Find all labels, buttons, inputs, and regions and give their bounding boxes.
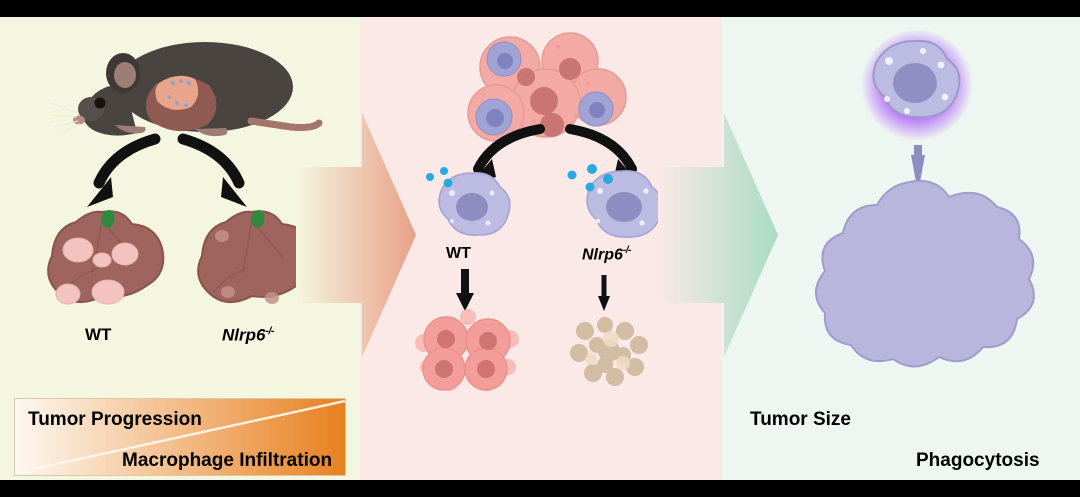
liver-ko-label: Nlrp6-/- [222, 325, 274, 346]
graphical-abstract: WT Nlrp6-/- Tumor Progression Macrophage… [0, 0, 1080, 497]
macrophage-wt-label: WT [446, 245, 471, 263]
mouse-illustration [55, 25, 315, 140]
liver-wt-label: WT [85, 325, 111, 345]
down-arrow-wt [453, 269, 477, 311]
macrophage-ko-label: Nlrp6-/- [582, 245, 631, 264]
tumor-large-wt [410, 309, 528, 393]
liver-ko-gene: Nlrp6 [222, 326, 265, 345]
down-arrow-ko [595, 275, 613, 311]
panel-phagocytosis: WT Nlrp6-/- [360, 17, 722, 480]
liver-wt-illustration [40, 202, 170, 317]
phagocytosis-label: Phagocytosis [916, 450, 1040, 472]
liver-ko-illustration [190, 202, 320, 317]
mechanism-cell-blob [777, 179, 1047, 389]
macrophage-ko [568, 161, 683, 241]
tumor-progression-label: Tumor Progression [28, 409, 202, 431]
liver-ko-superscript: -/- [265, 325, 273, 337]
macrophage-infiltration-label: Macrophage Infiltration [122, 450, 332, 472]
tumor-degraded-ko [565, 313, 657, 389]
macrophage-ko-gene: Nlrp6 [582, 246, 623, 263]
macrophage-ko-superscript: -/- [623, 245, 631, 256]
panel-tumor-progression: WT Nlrp6-/- Tumor Progression Macrophage… [0, 17, 360, 480]
macrophage-wt [422, 167, 532, 239]
tumor-size-label: Tumor Size [750, 409, 851, 431]
macrophage-glowing [857, 27, 977, 147]
